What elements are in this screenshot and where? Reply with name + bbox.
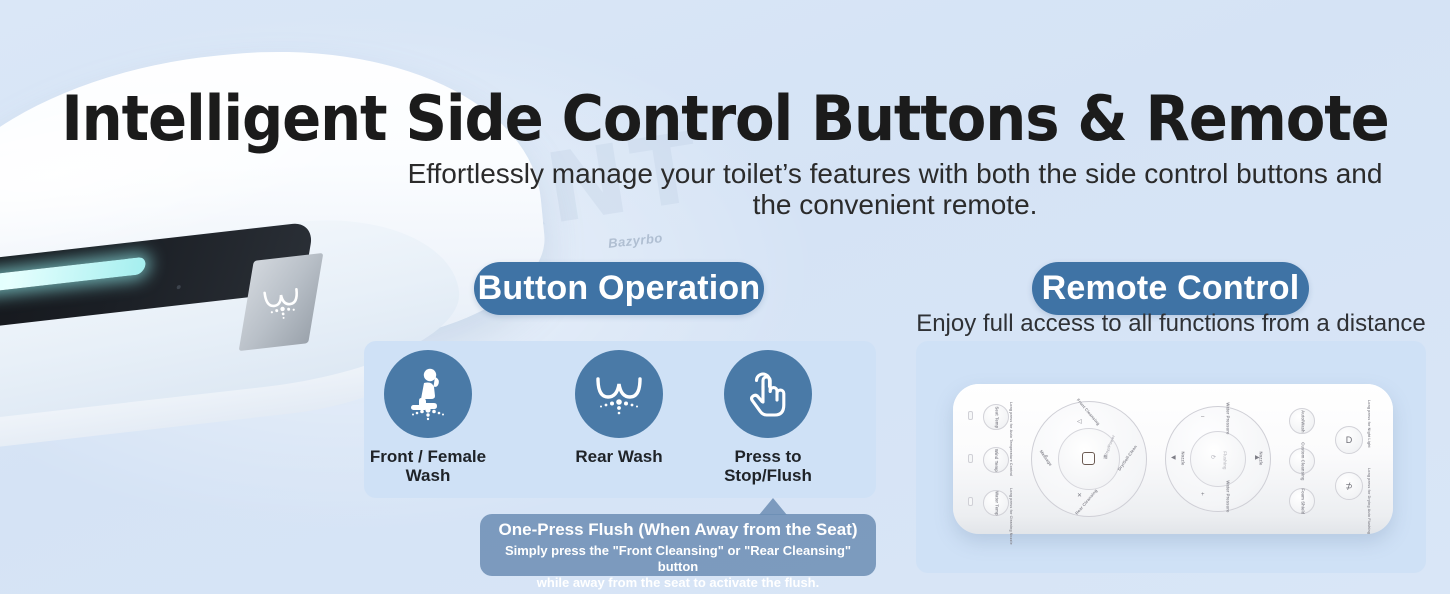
- remote-hint-night-light: Long press for Night Light: [1367, 400, 1371, 448]
- tooltip-body-line-1: Simply press the "Front Cleansing" or "R…: [492, 543, 864, 574]
- remote-button-seat-temp[interactable]: Seat Temp: [983, 404, 1009, 430]
- remote-button-auto-wash[interactable]: Auto/Wash: [1289, 408, 1315, 434]
- remote-device: Seat Temp Wind Temp Water Temp Long pres…: [953, 384, 1393, 534]
- page-title: Intelligent Side Control Buttons & Remot…: [51, 82, 1400, 155]
- flushing-glyph: ⟳: [1211, 454, 1216, 461]
- feature-label-line-1: Rear Wash: [575, 447, 662, 466]
- rear-cleansing-glyph: ✕: [1077, 492, 1082, 499]
- subtitle-line-1: Effortlessly manage your toilet’s featur…: [350, 158, 1440, 189]
- feature-label-line-1: Press to: [734, 447, 801, 466]
- feature-label: Front / Female Wash: [353, 447, 503, 485]
- remote-hint-seat-temp: Long press for Auto Temperature Control: [1009, 402, 1013, 476]
- massage-glyph: ≈: [1045, 454, 1048, 460]
- remote-right-dial-inner[interactable]: [1190, 431, 1246, 487]
- nozzle-right-glyph: ▶: [1255, 454, 1260, 461]
- remote-label-nozzle-left: Nozzle: [1180, 451, 1185, 465]
- remote-hint-drying-auto-flushing: Long press for Drying Auto Flushing: [1367, 468, 1371, 534]
- lid-open-icon: D: [1346, 435, 1353, 445]
- tooltip-body-line-2: while away from the seat to activate the…: [492, 575, 864, 591]
- remote-slot: [968, 454, 973, 463]
- feature-label: Rear Wash: [544, 447, 694, 466]
- remote-slot: [968, 411, 973, 420]
- remote-button-wind-temp[interactable]: Wind Temp: [983, 447, 1009, 473]
- led-indicator: [0, 257, 147, 303]
- feature-label: Press to Stop/Flush: [693, 447, 843, 485]
- remote-stop-power-button[interactable]: [1082, 452, 1095, 465]
- press-hand-icon: [724, 350, 812, 438]
- one-press-flush-tooltip: One-Press Flush (When Away from the Seat…: [480, 514, 876, 576]
- water-pressure-minus-glyph: –: [1201, 414, 1204, 420]
- feature-label-line-2: Stop/Flush: [724, 466, 812, 485]
- remote-button-foam-shield[interactable]: Foam Shield: [1289, 488, 1315, 514]
- feature-label-line-1: Front / Female: [370, 447, 486, 466]
- page-subtitle: Effortlessly manage your toilet’s featur…: [350, 158, 1440, 221]
- feature-label-line-2: Wash: [406, 466, 451, 485]
- rear-wash-icon: [258, 280, 307, 329]
- rear-wash-icon: [575, 350, 663, 438]
- remote-label-flushing: Flushing: [1222, 451, 1227, 469]
- front-cleansing-glyph: ◁: [1077, 418, 1082, 425]
- remote-button-seat-cover-close[interactable]: ⊅: [1335, 472, 1363, 500]
- remote-button-lid-open-close[interactable]: D: [1335, 426, 1363, 454]
- remote-button-water-temp[interactable]: Water Temp: [983, 490, 1009, 516]
- feature-press-to-stop-flush[interactable]: Press to Stop/Flush: [693, 350, 843, 485]
- tooltip-body: Simply press the "Front Cleansing" or "R…: [492, 543, 864, 590]
- feature-rear-wash[interactable]: Rear Wash: [544, 350, 694, 466]
- remote-control-panel: Seat Temp Wind Temp Water Temp Long pres…: [916, 341, 1426, 573]
- remote-label-water-pressure-up: Water Pressure: [1225, 402, 1230, 434]
- front-female-wash-icon: [384, 350, 472, 438]
- remote-control-pill: Remote Control: [1032, 262, 1309, 315]
- tooltip-title: One-Press Flush (When Away from the Seat…: [492, 520, 864, 540]
- remote-slot: [968, 497, 973, 506]
- button-operation-pill: Button Operation: [474, 262, 764, 315]
- tooltip-arrow: [759, 498, 787, 515]
- subtitle-line-2: the convenient remote.: [350, 189, 1440, 220]
- nozzle-left-glyph: ◀: [1171, 454, 1176, 461]
- remote-label-water-pressure-down: Water Pressure: [1225, 480, 1230, 512]
- remote-button-custom-cleansing[interactable]: Custom Cleansing: [1289, 448, 1315, 474]
- sensor-dot: [176, 285, 181, 290]
- feature-front-female-wash[interactable]: Front / Female Wash: [353, 350, 503, 485]
- water-pressure-plus-glyph: +: [1201, 492, 1205, 498]
- dry-self-clean-glyph: ≋: [1103, 454, 1108, 461]
- lid-close-icon: ⊅: [1345, 481, 1353, 492]
- remote-control-subtitle: Enjoy full access to all functions from …: [916, 310, 1426, 338]
- remote-hint-water-temp: Long press for Cleaning Nozzle: [1009, 488, 1013, 545]
